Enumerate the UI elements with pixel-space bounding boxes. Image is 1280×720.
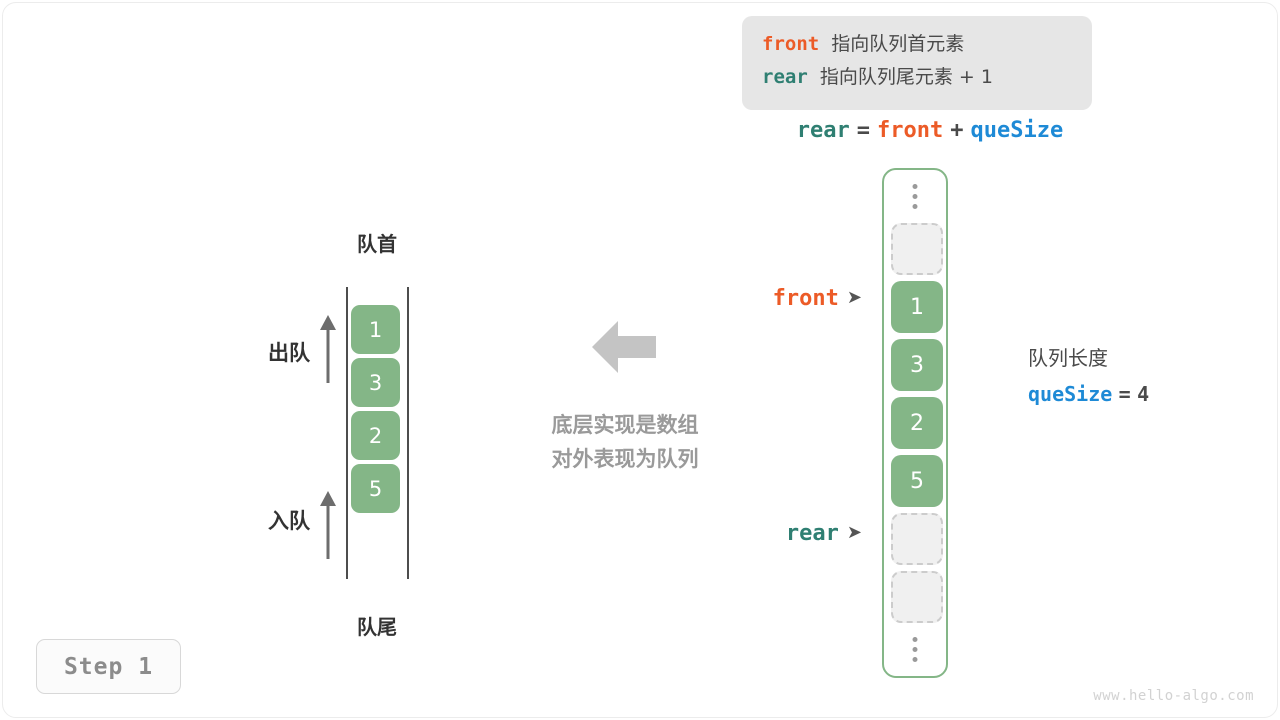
legend-rear-text: 指向队列尾元素 + 1 — [820, 66, 993, 88]
vertical-ellipsis-icon-bottom — [913, 637, 918, 662]
legend-rear-code: rear — [762, 66, 808, 88]
quesize-value: 4 — [1137, 382, 1149, 406]
middle-caption: 底层实现是数组 对外表现为队列 — [510, 408, 740, 476]
front-pointer-label: front➤ — [702, 286, 862, 311]
legend-line-front: front 指向队列首元素 — [762, 28, 1092, 61]
array-slot-empty — [891, 571, 943, 623]
queue-head-label: 队首 — [297, 228, 457, 257]
queue-cell: 5 — [351, 464, 400, 513]
dequeue-label: 出队 — [240, 337, 310, 367]
diagram-canvas: front 指向队列首元素 rear 指向队列尾元素 + 1 rear = fr… — [0, 0, 1280, 720]
rear-pointer-text: rear — [786, 521, 839, 546]
enqueue-up-arrow-icon — [316, 489, 340, 559]
rear-caret-icon: ➤ — [847, 522, 862, 543]
formula-front: front — [877, 118, 943, 143]
legend-line-rear: rear 指向队列尾元素 + 1 — [762, 61, 1092, 94]
formula-quesize: queSize — [971, 118, 1064, 143]
rear-formula: rear = front + queSize — [760, 118, 1100, 143]
legend-front-text: 指向队列首元素 — [831, 33, 964, 55]
array-slot-filled: 3 — [891, 339, 943, 391]
quesize-annotation: 队列长度 queSize = 4 — [1028, 340, 1149, 412]
legend-front-code: front — [762, 33, 819, 55]
array-slot-empty — [891, 513, 943, 565]
quesize-title: 队列长度 — [1028, 340, 1149, 376]
enqueue-label: 入队 — [240, 505, 310, 535]
formula-equals: = — [857, 118, 870, 143]
queue-cell: 1 — [351, 305, 400, 354]
array-slot-filled: 5 — [891, 455, 943, 507]
watermark: www.hello-algo.com — [1093, 688, 1254, 704]
dequeue-up-arrow-icon — [316, 313, 340, 383]
quesize-equals: = — [1119, 382, 1131, 406]
quesize-name: queSize — [1028, 382, 1112, 406]
formula-plus: + — [950, 118, 963, 143]
pointer-legend-box: front 指向队列首元素 rear 指向队列尾元素 + 1 — [742, 16, 1092, 110]
quesize-expression: queSize = 4 — [1028, 376, 1149, 412]
front-pointer-text: front — [773, 286, 839, 311]
queue-rail-left — [346, 287, 348, 579]
front-caret-icon: ➤ — [847, 287, 862, 308]
array-container: 1 3 2 5 — [882, 168, 948, 678]
formula-rear: rear — [797, 118, 850, 143]
step-badge: Step 1 — [36, 639, 181, 694]
array-slot-empty — [891, 223, 943, 275]
array-slot-filled: 1 — [891, 281, 943, 333]
queue-cell: 2 — [351, 411, 400, 460]
queue-cell: 3 — [351, 358, 400, 407]
rear-pointer-label: rear➤ — [702, 521, 862, 546]
middle-caption-line2: 对外表现为队列 — [510, 442, 740, 476]
vertical-ellipsis-icon-top — [913, 184, 918, 209]
middle-caption-line1: 底层实现是数组 — [510, 408, 740, 442]
queue-rail-right — [407, 287, 409, 579]
left-arrow-icon — [592, 318, 656, 376]
array-slot-filled: 2 — [891, 397, 943, 449]
queue-tail-label: 队尾 — [297, 611, 457, 640]
